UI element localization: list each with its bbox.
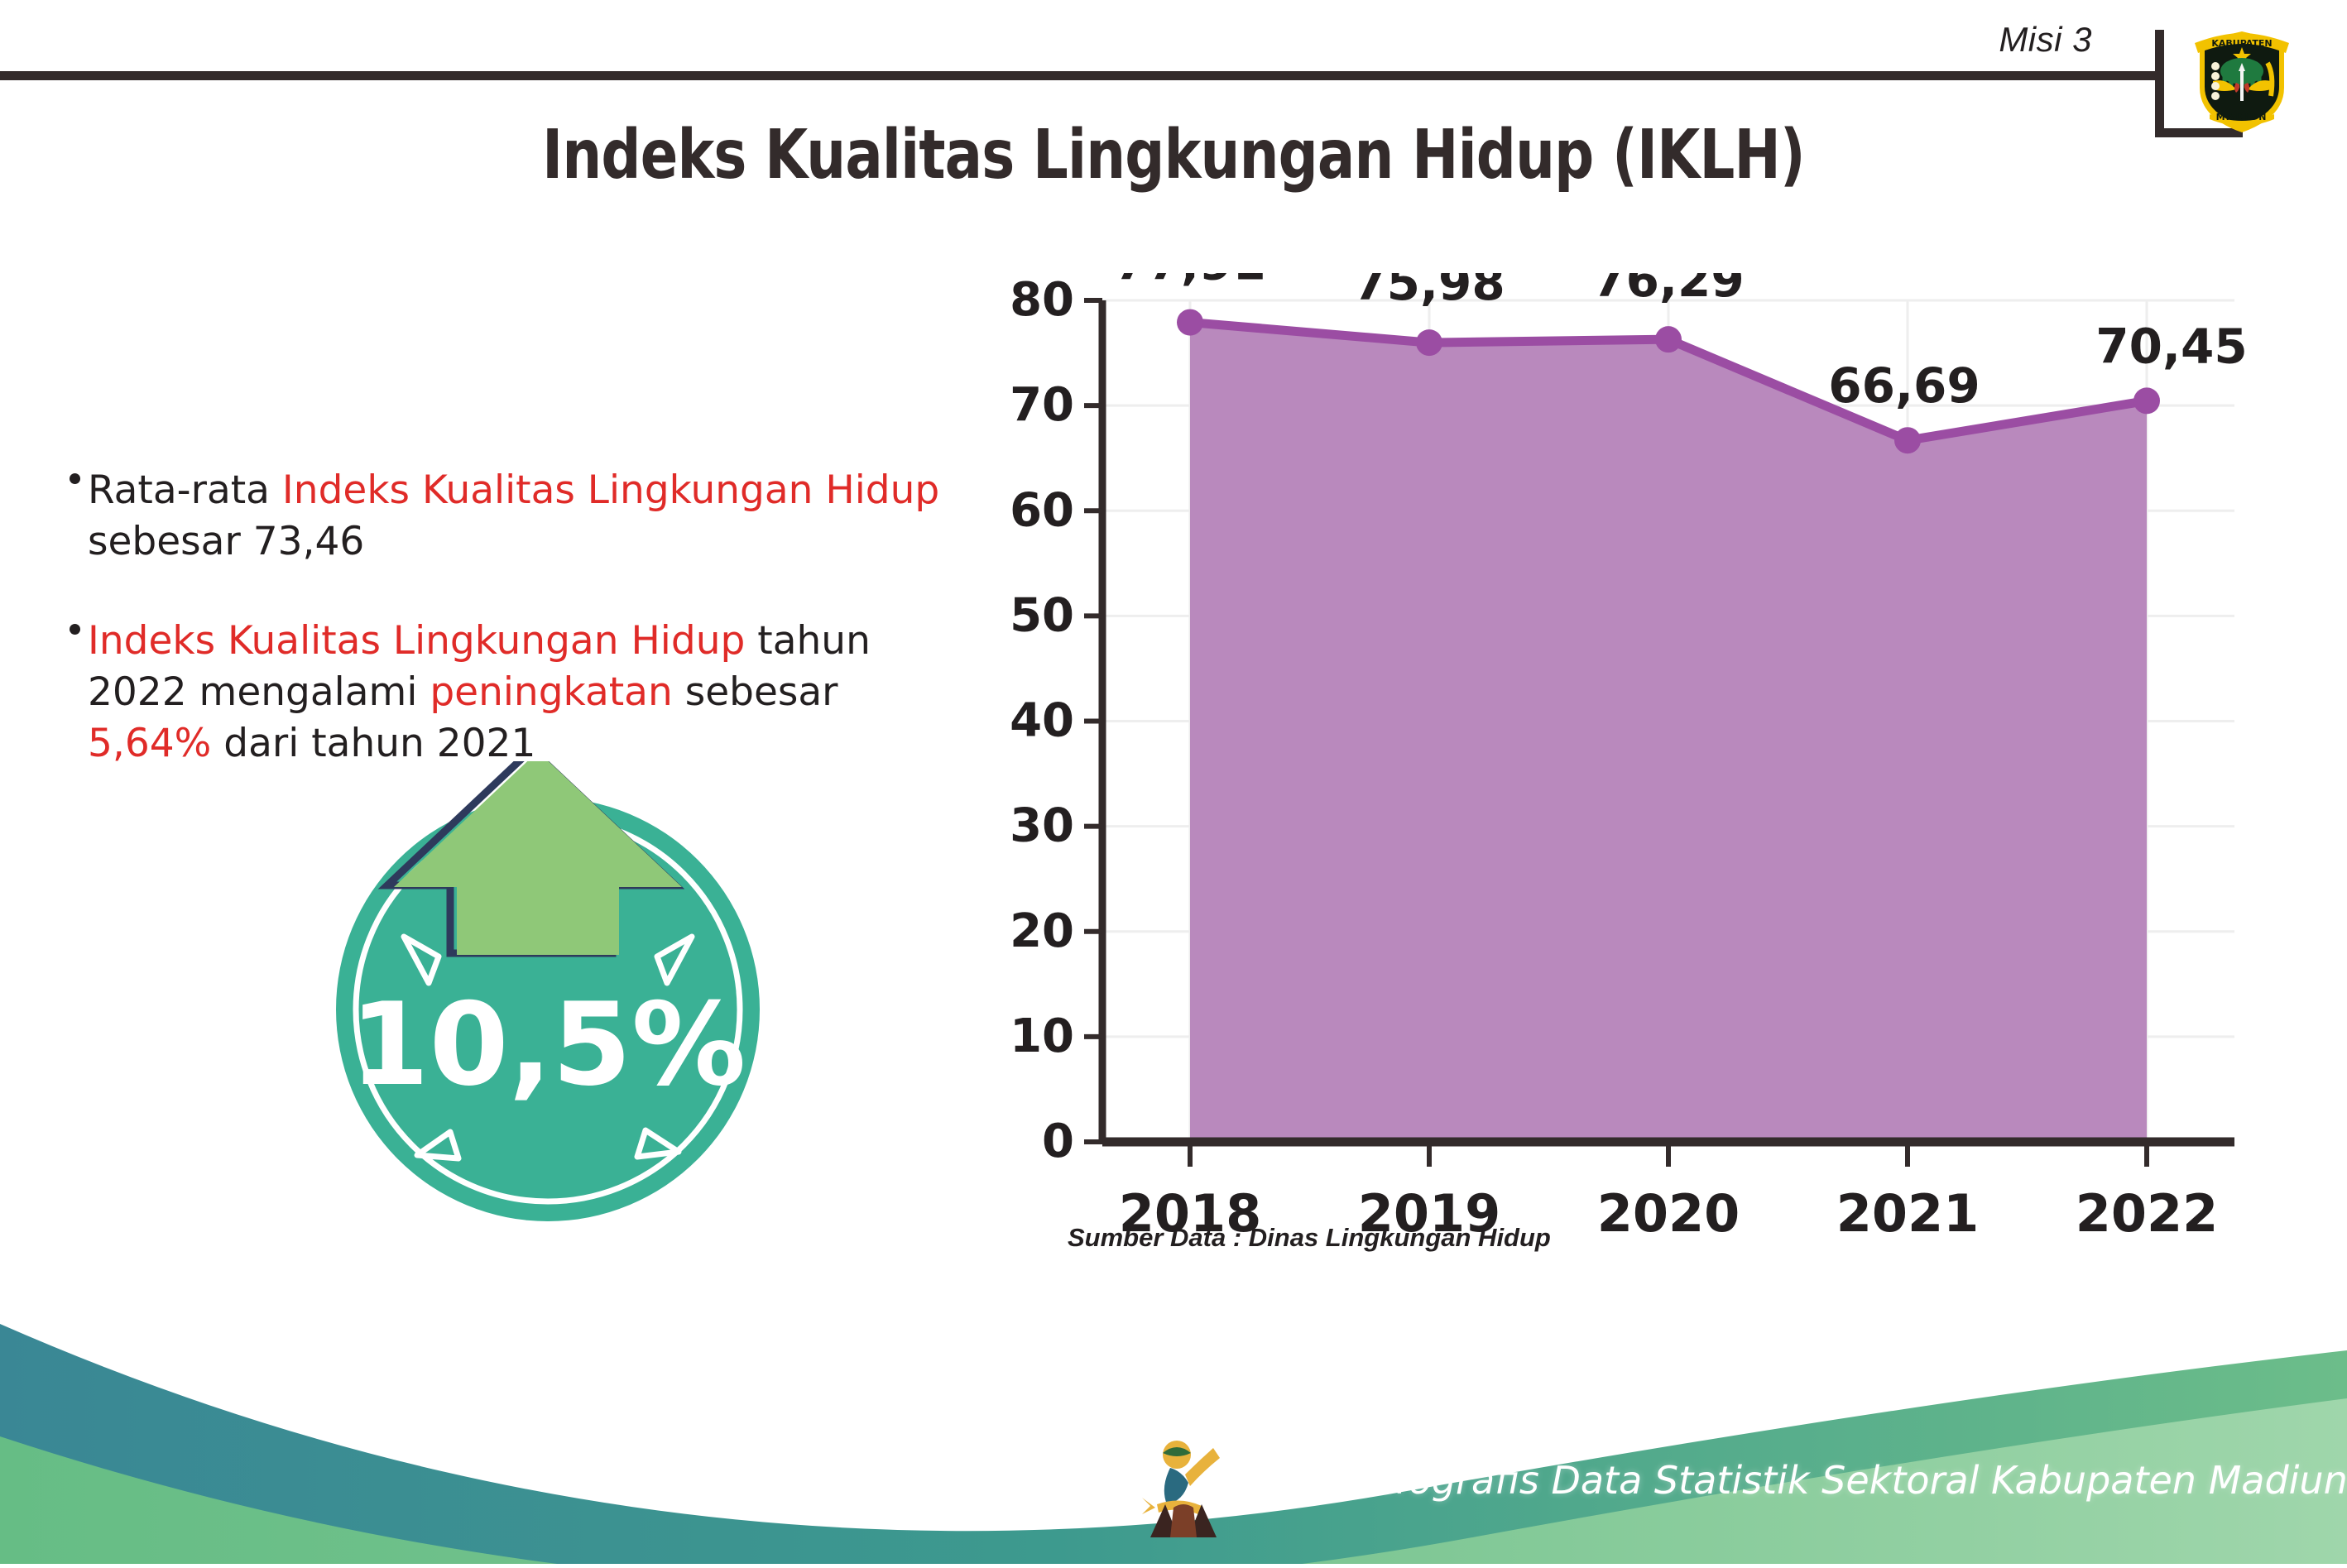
data-point-marker	[1655, 326, 1682, 352]
data-point-marker	[1177, 309, 1203, 336]
x-axis-tick-label: 2021	[1836, 1183, 1980, 1244]
bullet-dot-icon	[70, 473, 80, 484]
misi-label: Misi 3	[1999, 20, 2092, 60]
list-item: Rata-rata Indeks Kualitas Lingkungan Hid…	[70, 465, 963, 568]
highlighted-phrase: Indeks Kualitas Lingkungan Hidup	[282, 468, 939, 513]
page-title: Indeks Kualitas Lingkungan Hidup (IKLH)	[211, 116, 2136, 194]
kabupaten-madiun-emblem-icon: KABUPATEN MADIUN	[2188, 20, 2296, 136]
y-axis-tick-label: 70	[1010, 378, 1074, 432]
highlighted-phrase: peningkatan	[430, 669, 672, 715]
increase-badge: 10,5%	[333, 761, 763, 1225]
data-point-marker	[1416, 329, 1442, 356]
data-point-marker	[1894, 427, 1921, 453]
data-value-label: 66,69	[1828, 357, 1980, 414]
bullet-dot-icon	[70, 624, 80, 635]
y-axis-tick-label: 0	[1042, 1115, 1074, 1168]
y-axis-tick-label: 50	[1010, 588, 1074, 642]
y-axis-tick-label: 10	[1010, 1009, 1074, 1063]
header-bracket-vertical	[2155, 30, 2164, 137]
plain-phrase: sebesar 73,46	[88, 519, 364, 564]
data-value-label: 77,91	[1114, 273, 1265, 291]
area-fill	[1190, 323, 2147, 1142]
bullet-text: Indeks Kualitas Lingkungan Hidup tahun 2…	[70, 616, 963, 770]
header-divider-rule	[0, 71, 2162, 80]
y-axis-tick-label: 60	[1010, 483, 1074, 537]
list-item: Indeks Kualitas Lingkungan Hidup tahun 2…	[70, 616, 963, 770]
y-axis-tick-label: 40	[1010, 694, 1074, 748]
plain-phrase: Rata-rata	[88, 468, 282, 513]
media-infografis-figure-logo-icon	[1137, 1428, 1230, 1537]
x-axis-tick-label: 2022	[2076, 1183, 2219, 1244]
iklh-area-chart: 010203040506070802018201920202021202277,…	[982, 273, 2273, 1266]
badge-value: 10,5%	[350, 978, 746, 1111]
data-value-label: 75,98	[1353, 273, 1505, 311]
y-axis-tick-label: 80	[1010, 273, 1074, 327]
data-point-marker	[2133, 387, 2160, 414]
footer-caption: Media Infografis Data Statistik Sektoral…	[1233, 1458, 2347, 1503]
y-axis-tick-label: 30	[1010, 799, 1074, 853]
data-value-label: 76,29	[1592, 273, 1744, 308]
chart-source-note: Sumber Data : Dinas Lingkungan Hidup	[1068, 1223, 1551, 1253]
x-axis-tick-label: 2020	[1597, 1183, 1740, 1244]
highlighted-phrase: 5,64%	[88, 721, 211, 766]
plain-phrase: dari tahun 2021	[211, 721, 535, 766]
bullet-text: Rata-rata Indeks Kualitas Lingkungan Hid…	[70, 465, 963, 568]
data-value-label: 70,45	[2095, 318, 2247, 374]
plain-phrase: sebesar	[673, 669, 838, 715]
y-axis-tick-label: 20	[1010, 904, 1074, 958]
highlighted-phrase: Indeks Kualitas Lingkungan Hidup	[88, 618, 745, 664]
